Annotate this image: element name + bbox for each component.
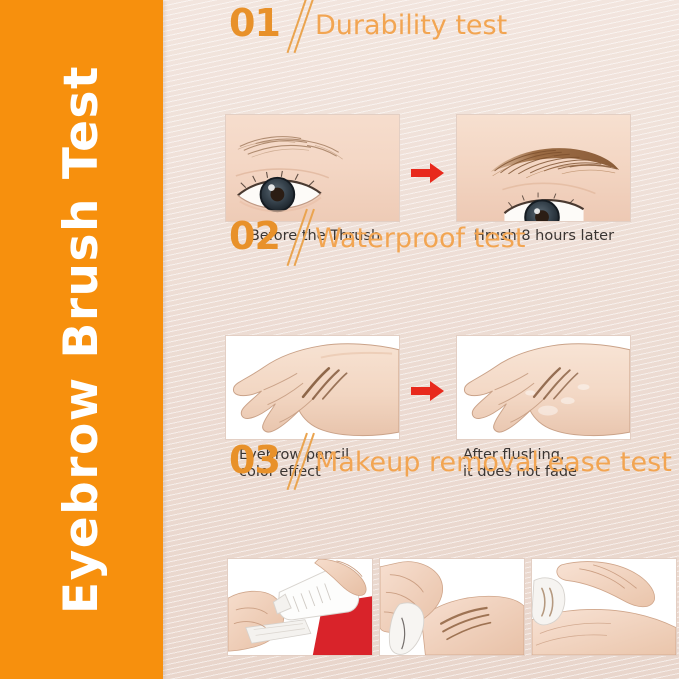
section-02-number: 02 (229, 217, 280, 255)
section-01-number: 01 (229, 4, 280, 42)
section-02-heading: 02 Waterproof test (163, 213, 679, 269)
section-03-heading: 03 Makeup removal ease test (163, 437, 679, 493)
section-makeup-removal-test: 03 Makeup removal ease test (163, 437, 679, 493)
photo-pouring-remover-on-pad (227, 558, 373, 656)
section-waterproof-test: 02 Waterproof test (163, 213, 679, 269)
arrow-right-icon-02 (411, 379, 445, 403)
photo-hand-after-flushing (456, 335, 631, 440)
infographic-page: Eyebrow Brush Test 01 Durability test (0, 0, 679, 679)
photo-eye-after-8-hours (456, 114, 631, 222)
photo-wiping-hand-with-pad (379, 558, 525, 656)
section-03-title: Makeup removal ease test (315, 447, 672, 478)
vertical-banner: Eyebrow Brush Test (0, 0, 163, 679)
photo-hand-with-pencil-strokes (225, 335, 400, 440)
section-02-title: Waterproof test (315, 223, 525, 254)
section-01-heading: 01 Durability test (163, 0, 679, 56)
photo-eye-before-brush (225, 114, 400, 222)
content-column: 01 Durability test (163, 0, 679, 679)
photo-clean-hand-result (531, 558, 677, 656)
section-03-number: 03 (229, 441, 280, 479)
section-01-title: Durability test (315, 10, 507, 41)
arrow-right-icon-01 (411, 161, 445, 185)
banner-title: Eyebrow Brush Test (54, 65, 109, 614)
section-durability-test: 01 Durability test (163, 0, 679, 56)
